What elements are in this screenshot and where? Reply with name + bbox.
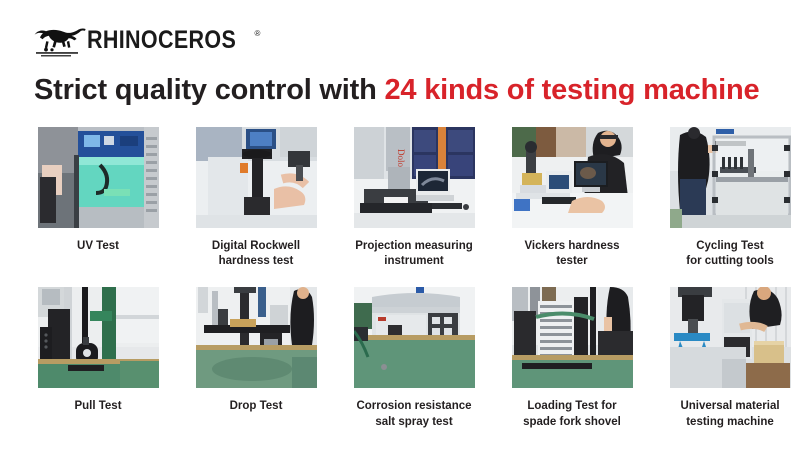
- gallery-item-caption: Vickers hardness tester: [508, 239, 636, 269]
- registered-mark: ®: [254, 30, 260, 38]
- gallery-item[interactable]: Loading Test for spade fork shovel: [508, 287, 636, 429]
- gallery-item[interactable]: Corrosion resistance salt spray test: [350, 287, 478, 429]
- gallery-item[interactable]: Vickers hardness tester: [508, 127, 636, 269]
- slide-root: RHINOCEROS ® Strict quality control with…: [0, 0, 800, 449]
- brand-wordmark: RHINOCEROS ®: [87, 28, 260, 53]
- testing-machine-gallery: UV Test: [34, 127, 766, 430]
- gallery-item-caption: Pull Test: [34, 399, 162, 414]
- gallery-item[interactable]: Universal material testing machine: [666, 287, 794, 429]
- drop-test-rig-photo: [196, 287, 317, 388]
- cycling-test-cutting-tools-photo: [670, 127, 791, 228]
- pull-test-rig-photo: [38, 287, 159, 388]
- gallery-item[interactable]: Dolong Projection measuring instrument: [350, 127, 478, 269]
- universal-material-testing-machine-photo: [670, 287, 791, 388]
- gallery-item-caption: Projection measuring instrument: [350, 239, 478, 269]
- salt-spray-corrosion-chamber-photo: [354, 287, 475, 388]
- gallery-item-caption: UV Test: [34, 239, 162, 254]
- uv-test-chamber-photo: [38, 127, 159, 228]
- gallery-item-caption: Digital Rockwell hardness test: [192, 239, 320, 269]
- page-title-lead: Strict quality control with: [34, 74, 384, 106]
- gallery-item[interactable]: Digital Rockwell hardness test: [192, 127, 320, 269]
- gallery-item-caption: Universal material testing machine: [666, 399, 794, 429]
- brand-logo: RHINOCEROS ®: [33, 20, 260, 60]
- digital-rockwell-hardness-tester-photo: [196, 127, 317, 228]
- projection-measuring-instrument-photo: Dolong: [354, 127, 475, 228]
- page-title: Strict quality control with 24 kinds of …: [34, 76, 759, 105]
- gallery-item[interactable]: Drop Test: [192, 287, 320, 429]
- page-title-accent: 24 kinds of testing machine: [384, 74, 759, 106]
- gallery-item-caption: Drop Test: [192, 399, 320, 414]
- vickers-hardness-tester-photo: [512, 127, 633, 228]
- gallery-item-caption: Cycling Test for cutting tools: [666, 239, 794, 269]
- gallery-item[interactable]: Pull Test: [34, 287, 162, 429]
- brand-name: RHINOCEROS: [87, 28, 236, 53]
- gallery-item[interactable]: UV Test: [34, 127, 162, 269]
- gallery-item[interactable]: Cycling Test for cutting tools: [666, 127, 794, 269]
- rhinoceros-silhouette-icon: [33, 20, 89, 60]
- gallery-item-caption: Corrosion resistance salt spray test: [350, 399, 478, 429]
- gallery-item-caption: Loading Test for spade fork shovel: [508, 399, 636, 429]
- loading-test-spade-fork-photo: [512, 287, 633, 388]
